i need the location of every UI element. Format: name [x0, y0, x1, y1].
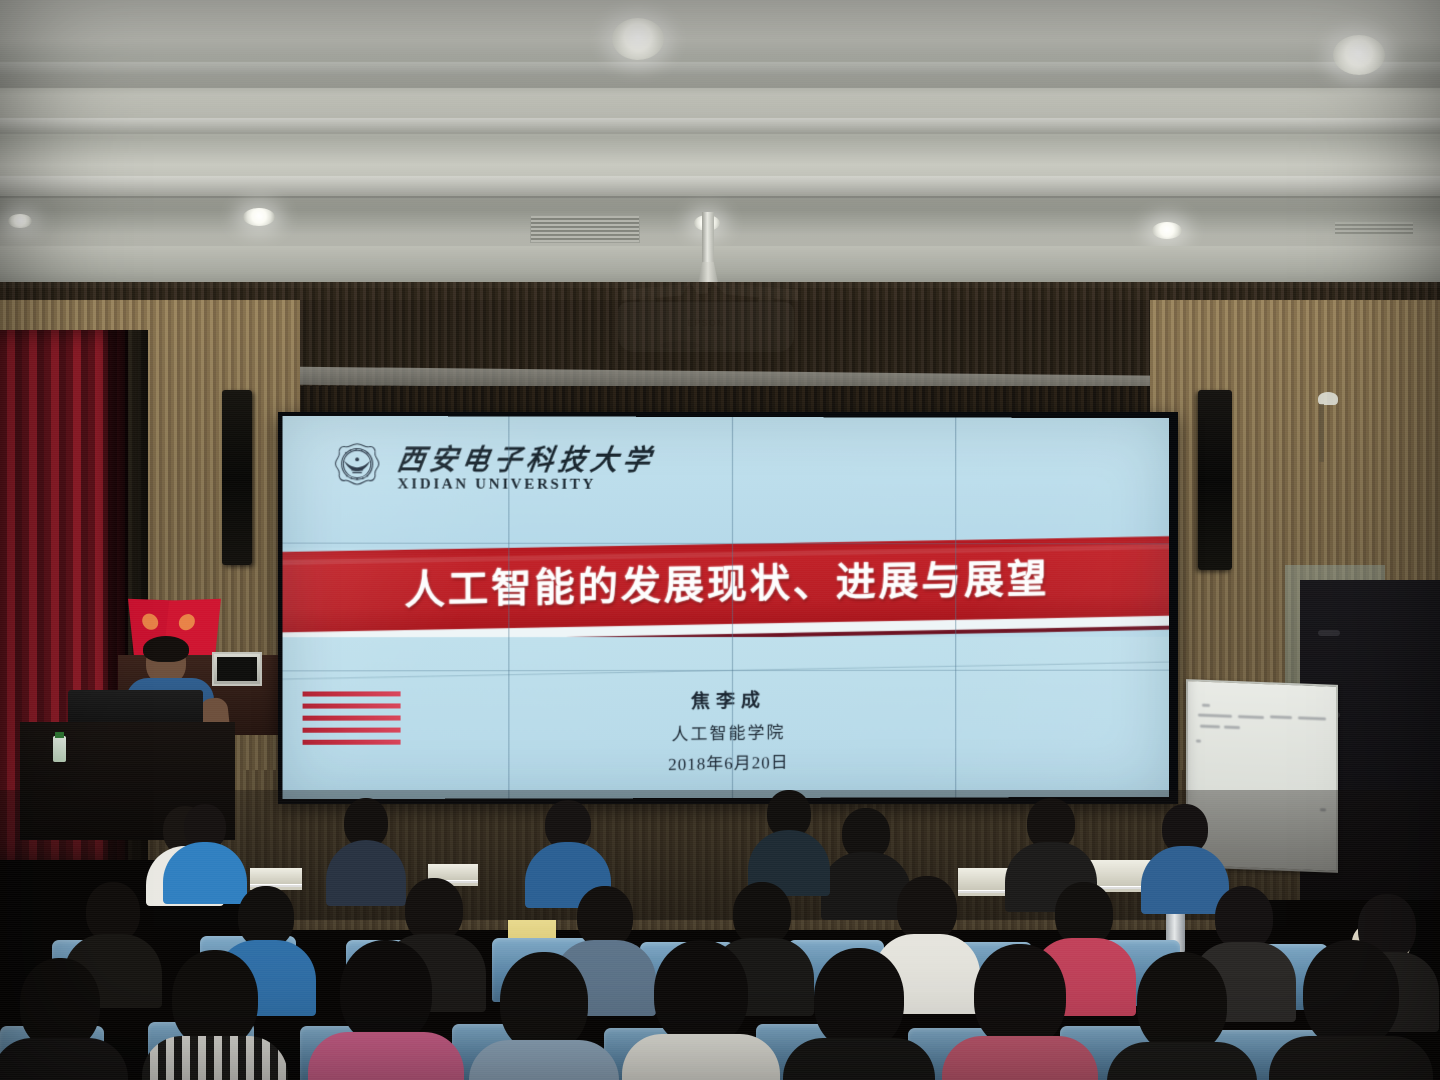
wall-speaker-left [222, 390, 252, 565]
person-head [897, 876, 957, 942]
person-head [1055, 882, 1113, 946]
person-shoulders [0, 1038, 128, 1080]
ceiling-beam [0, 118, 1440, 134]
air-vent-icon [530, 215, 640, 243]
air-vent-icon [1335, 222, 1413, 236]
person-head [172, 950, 258, 1048]
ceiling-light-icon [8, 214, 32, 228]
person-head [814, 948, 904, 1050]
person-head [654, 940, 748, 1046]
flag-emblem-icon [178, 614, 196, 631]
audience-member [168, 804, 242, 890]
xidian-university-crest-icon [329, 441, 386, 497]
slide-surface: 西安电子科技大学 XIDIAN UNIVERSITY 人工智能的发展现状、进展与… [282, 416, 1169, 799]
whiteboard-mark [1202, 704, 1210, 707]
person-shoulders [622, 1034, 780, 1080]
person-head [577, 886, 633, 948]
ceiling-beam [0, 176, 1440, 198]
audience-member [1010, 798, 1092, 894]
ceiling-light-icon [243, 208, 275, 226]
ceiling-light-icon [1333, 35, 1385, 75]
audience-member [950, 944, 1090, 1080]
person-head [86, 882, 140, 942]
person-head [500, 952, 588, 1052]
person-shoulders [1269, 1036, 1433, 1080]
person-head [733, 882, 791, 946]
audience-member [530, 800, 606, 892]
logo-chinese-name: 西安电子科技大学 [395, 445, 657, 474]
whiteboard-mark [1270, 715, 1292, 719]
audience-member [0, 958, 120, 1080]
ceiling [0, 0, 1440, 250]
person-head [1303, 940, 1399, 1048]
slide-presenter-block: 焦李成 人工智能学院 2018年6月20日 [282, 677, 1169, 782]
audience-member [630, 940, 772, 1080]
panel-seam [955, 418, 956, 798]
audience-member [1276, 940, 1426, 1080]
person-head [405, 878, 463, 942]
water-bottle-cap [55, 732, 64, 738]
audience-member [150, 950, 280, 1080]
person-shoulders [1107, 1042, 1257, 1080]
whiteboard-mark [1196, 739, 1201, 742]
flag-emblem-icon [141, 613, 159, 630]
video-wall-screen: 西安电子科技大学 XIDIAN UNIVERSITY 人工智能的发展现状、进展与… [278, 412, 1178, 804]
audience-member [752, 790, 826, 882]
whiteboard-mark [1224, 726, 1240, 730]
audience-member [1114, 952, 1250, 1080]
audience-member [790, 948, 928, 1080]
person-head [340, 940, 432, 1044]
person-head [1137, 952, 1227, 1054]
audience-member [1146, 804, 1224, 896]
lecture-hall-photo: EPSON [0, 0, 1440, 1080]
person-head [20, 958, 100, 1050]
wall-conduit [1319, 404, 1324, 462]
whiteboard-mark [1198, 714, 1232, 718]
person-shoulders [942, 1036, 1098, 1080]
audience-area [0, 790, 1440, 1080]
cabinet-handle[interactable] [1318, 630, 1340, 636]
audience-member [476, 952, 612, 1080]
person-shoulders [142, 1036, 288, 1080]
ceiling-light-icon [1152, 222, 1182, 239]
whiteboard-mark [1238, 715, 1264, 719]
panel-seam [508, 416, 509, 798]
whiteboard-mark [1200, 725, 1220, 729]
person-shoulders [469, 1040, 619, 1080]
presenter-hair [143, 636, 189, 662]
person-shoulders [308, 1032, 464, 1080]
university-logo: 西安电子科技大学 XIDIAN UNIVERSITY [329, 441, 655, 498]
water-bottle [53, 736, 66, 762]
logo-english-name: XIDIAN UNIVERSITY [398, 477, 655, 492]
person-head [238, 886, 294, 948]
wall-control-panel[interactable] [212, 652, 262, 686]
name-card [250, 868, 302, 884]
ceiling-beam [0, 62, 1440, 88]
person-head [1215, 886, 1273, 950]
audience-member [316, 940, 456, 1080]
audience-member [330, 798, 402, 890]
panel-seam [732, 417, 733, 798]
wall-speaker-right [1198, 390, 1232, 570]
person-head [974, 944, 1066, 1048]
person-shoulders [783, 1038, 935, 1080]
ceiling-light-icon [612, 18, 664, 60]
whiteboard-mark [1298, 716, 1326, 720]
